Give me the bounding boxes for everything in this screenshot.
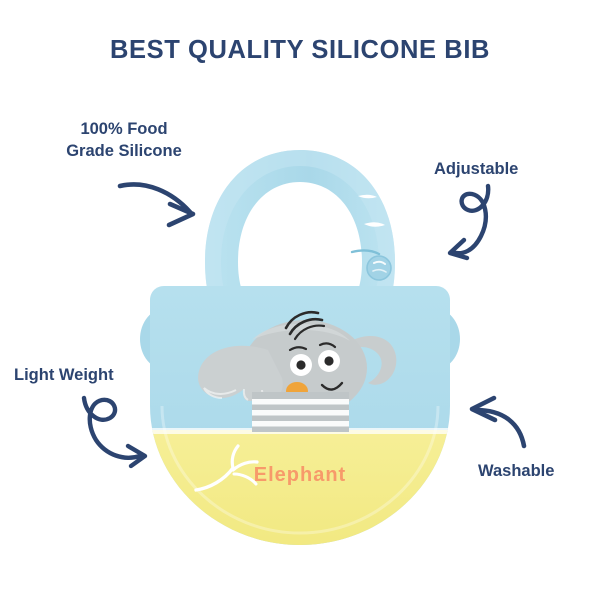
infographic-canvas: BEST QUALITY SILICONE BIB bbox=[0, 0, 600, 600]
product-illustration: Elephant bbox=[0, 0, 600, 600]
arrow-washable-icon bbox=[472, 398, 524, 446]
arrow-adjustable-icon bbox=[450, 186, 488, 258]
callout-label-adjustable: Adjustable bbox=[434, 158, 584, 180]
arrow-light-weight-icon bbox=[84, 398, 145, 466]
callout-label-food-grade: 100% Food Grade Silicone bbox=[36, 118, 212, 162]
callout-label-washable: Washable bbox=[478, 460, 600, 482]
arrow-food-grade-icon bbox=[120, 184, 193, 225]
elephant-shirt bbox=[248, 392, 354, 432]
bib-pocket bbox=[140, 428, 460, 560]
callout-label-light-weight: Light Weight bbox=[14, 364, 164, 386]
brand-text: Elephant bbox=[254, 464, 346, 486]
snap-button bbox=[367, 256, 391, 280]
